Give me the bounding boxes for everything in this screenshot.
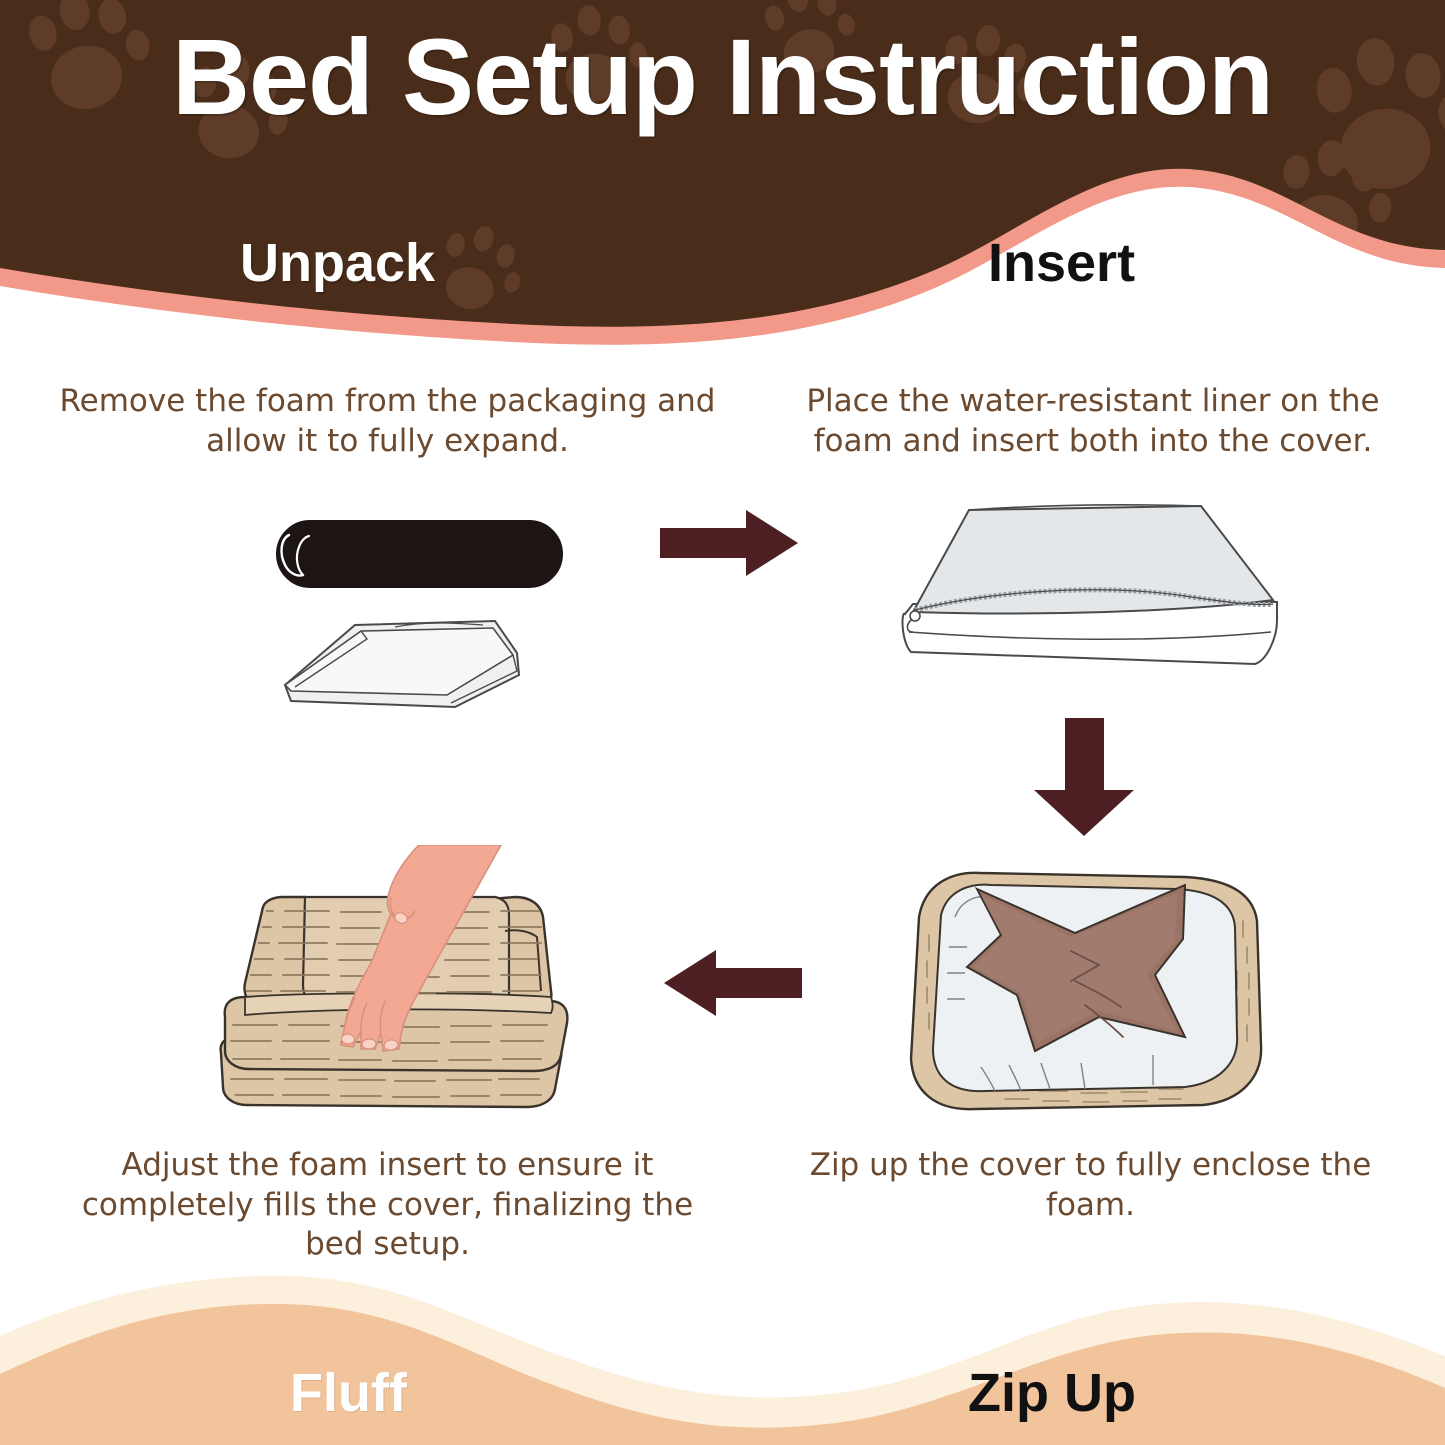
page-title: Bed Setup Instruction (0, 18, 1445, 137)
arrow-down-icon (1032, 718, 1137, 838)
illustration-hand-pressing-bed (205, 845, 620, 1125)
step-label-insert: Insert (988, 232, 1135, 294)
footer-wave-graphic (0, 1270, 1445, 1445)
arrow-zip-to-fluff (662, 948, 802, 1018)
arrow-right-icon (660, 508, 800, 578)
foam-roll-icon (277, 521, 562, 587)
caption-fluff: Adjust the foam insert to ensure it comp… (50, 1146, 725, 1265)
illustration-foam-roll-and-liner (255, 495, 595, 710)
arrow-unpack-to-insert (660, 508, 800, 578)
arrow-insert-to-zip (1032, 718, 1137, 838)
illustration-liner-on-foam-mattress (885, 492, 1295, 677)
illustration-open-cover-with-liner (885, 855, 1280, 1120)
step-label-fluff: Fluff (290, 1362, 407, 1424)
caption-zip-up: Zip up the cover to fully enclose the fo… (778, 1146, 1403, 1225)
caption-insert: Place the water-resistant liner on the f… (768, 382, 1418, 461)
caption-unpack: Remove the foam from the packaging and a… (55, 382, 720, 461)
step-label-unpack: Unpack (240, 232, 435, 294)
footer-banner (0, 1270, 1445, 1445)
step-label-zip-up: Zip Up (968, 1362, 1136, 1424)
liner-sheet-icon (285, 621, 519, 707)
bed-setup-instruction-poster: Bed Setup Instruction Unpack Insert Remo… (0, 0, 1445, 1445)
arrow-left-icon (662, 948, 802, 1018)
